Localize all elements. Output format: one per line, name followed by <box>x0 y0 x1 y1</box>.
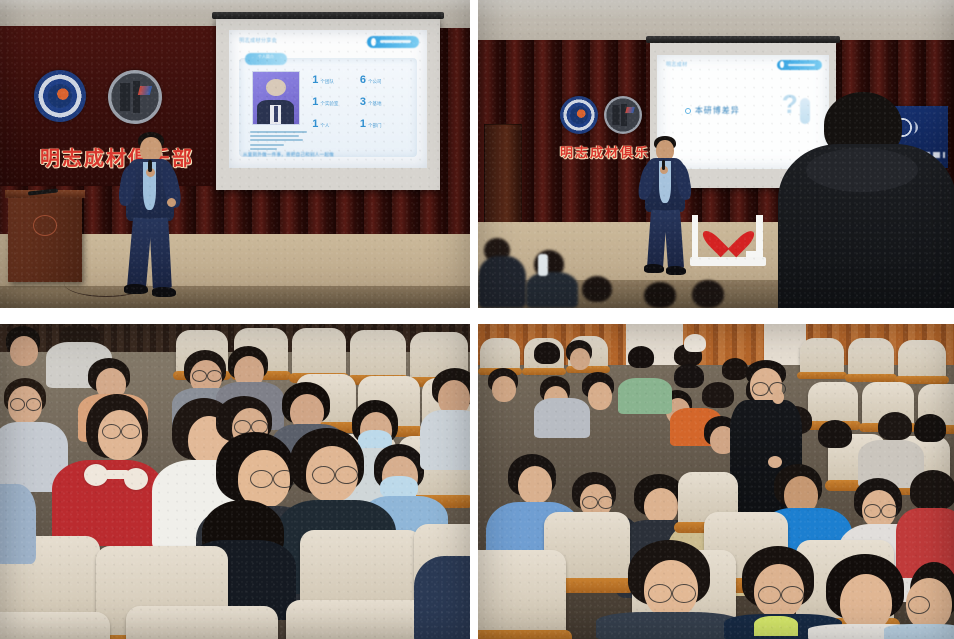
stat-label: 个部门 <box>368 123 382 129</box>
stat-label: 个团队 <box>320 79 334 85</box>
photo-panel-top-left: 明志成材俱乐部 明志成材分享会 个人简介 <box>0 0 470 308</box>
photo-panel-bottom-left <box>0 324 470 639</box>
heart-shape-icon <box>717 219 740 256</box>
photo-panel-bottom-right <box>478 324 954 639</box>
projector-screen: 明志成材分享会 个人简介 <box>216 18 440 190</box>
stat-item: 3 个基地 <box>360 97 382 108</box>
letter-i <box>692 215 699 257</box>
stat-label: 个基地 <box>368 101 382 107</box>
stat-item: 1 个部门 <box>360 119 382 130</box>
stat-value: 1 <box>312 119 318 130</box>
slide-header-title: 明志成材 <box>666 61 688 68</box>
slide-footer-note: 从里到外做一件事，要把自己和别人一起做 <box>243 152 334 158</box>
screen-roller <box>212 12 445 19</box>
stat-label: 个公司 <box>368 79 382 85</box>
slide-logo-badge <box>777 60 821 70</box>
water-bottle <box>538 254 548 276</box>
photo-panel-top-right: 明志成材俱乐部 明志成材 本研博差异 ? <box>478 0 954 308</box>
stat-value: 3 <box>360 97 366 108</box>
front-row-student <box>596 612 740 639</box>
club-seal-emblem <box>604 96 642 134</box>
stat-label: 个人 <box>320 123 329 129</box>
ceiling-highlight <box>478 0 954 18</box>
presentation-slide: 明志成材分享会 个人简介 <box>229 30 426 168</box>
stat-item: 1 个实验室 <box>312 97 338 108</box>
stat-value: 1 <box>360 119 366 130</box>
slide-content-card: 个人简介 1 个团队 6 <box>239 58 416 157</box>
photo-collage: 明志成材俱乐部 明志成材分享会 个人简介 <box>0 0 954 639</box>
slide-section-pill: 个人简介 <box>245 53 288 66</box>
stat-value: 1 <box>312 97 318 108</box>
ceiling-highlight <box>0 0 470 12</box>
stat-label: 个实验室 <box>320 101 338 107</box>
foreground-audience-member <box>778 92 954 308</box>
lectern-emblem <box>33 215 57 236</box>
speaker-person <box>640 136 692 278</box>
screen-roller <box>646 36 839 43</box>
slide-bullet-line: 本研博差异 <box>685 105 740 116</box>
stat-item: 1 个团队 <box>312 75 334 86</box>
slide-bullet-text: 本研博差异 <box>695 105 740 116</box>
club-seal-emblem <box>108 70 162 124</box>
slide-bullet-lines <box>250 128 307 152</box>
slide-logo-badge <box>367 36 418 48</box>
speaker-portrait <box>252 71 300 125</box>
stat-item: 6 个公司 <box>360 75 382 86</box>
i-love-photo-prop <box>690 202 766 266</box>
lectern <box>8 196 82 282</box>
side-door <box>484 124 522 234</box>
slide-header-title: 明志成材分享会 <box>239 37 277 44</box>
university-seal-emblem <box>560 96 598 134</box>
stat-item: 1 个人 <box>312 119 329 130</box>
stat-value: 6 <box>360 75 366 86</box>
slide-stats-group: 1 个团队 6 个公司 1 个实验室 3 个基地 <box>310 71 409 138</box>
stat-value: 1 <box>312 75 318 86</box>
bullet-dot-icon <box>685 108 691 114</box>
university-seal-emblem <box>34 70 86 122</box>
speaker-person <box>118 132 182 300</box>
slide-section-pill-label: 个人简介 <box>245 53 288 61</box>
